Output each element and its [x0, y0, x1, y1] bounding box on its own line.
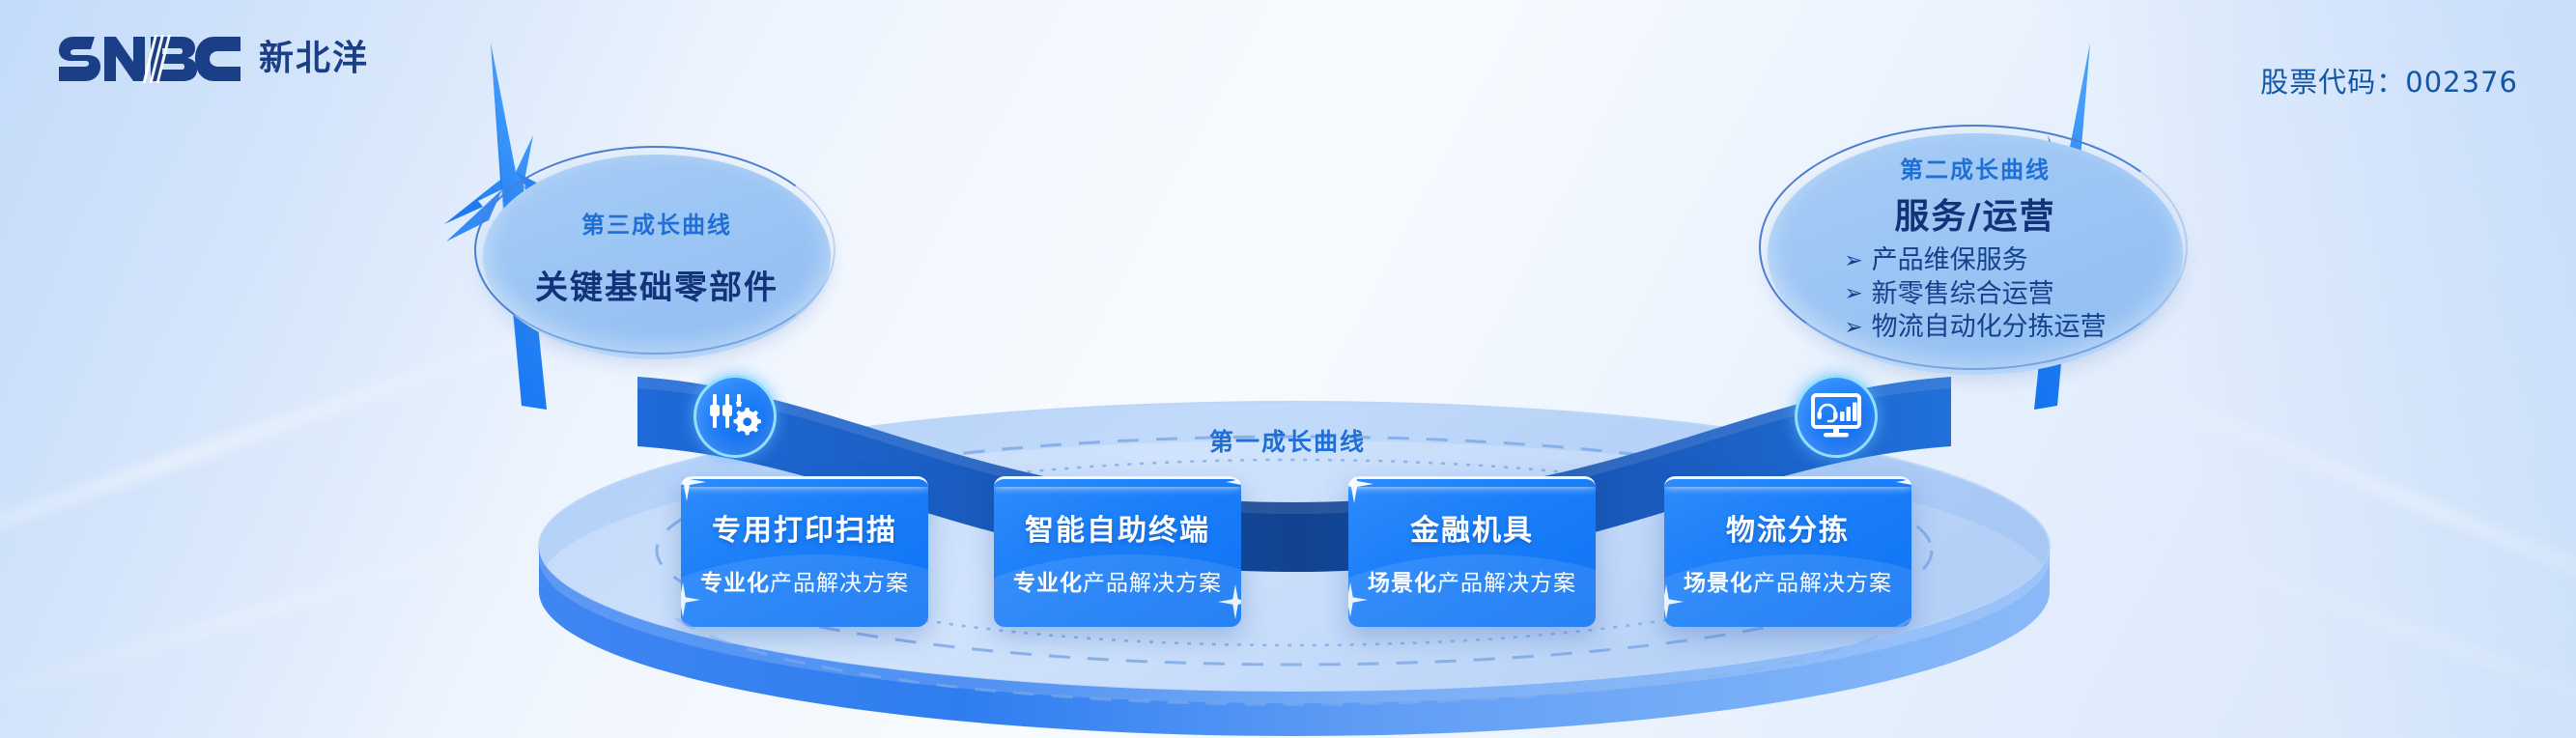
growth-bubble-third[interactable]: 第三成长曲线 关键基础零部件: [483, 155, 831, 359]
list-item-label: 产品维保服务: [1872, 244, 2028, 278]
arrow-bullet-icon: ➢: [1844, 280, 1862, 308]
growth-bubble-second[interactable]: 第二成长曲线 服务/运营 ➢产品维保服务 ➢新零售综合运营 ➢物流自动化分拣运营: [1768, 133, 2183, 375]
slide-canvas: 专用打印扫描 专业化产品解决方案 智能自助终端 专业化产品解决方案 金融机具 场…: [0, 0, 2576, 738]
bubble-title: 服务/运营: [1894, 188, 2055, 239]
list-item: ➢新零售综合运营: [1844, 278, 2106, 312]
list-item: ➢产品维保服务: [1844, 244, 2106, 278]
list-item-label: 新零售综合运营: [1872, 278, 2054, 312]
list-item-label: 物流自动化分拣运营: [1872, 311, 2107, 345]
arrow-bullet-icon: ➢: [1844, 247, 1862, 275]
node-icon-service[interactable]: [1795, 375, 1878, 458]
node-icon-components[interactable]: [694, 375, 777, 458]
bubble-bullet-list: ➢产品维保服务 ➢新零售综合运营 ➢物流自动化分拣运营: [1844, 244, 2106, 345]
arrow-bullet-icon: ➢: [1844, 314, 1862, 342]
bubble-kicker: 第三成长曲线: [581, 206, 732, 240]
bubble-kicker: 第二成长曲线: [1900, 151, 2051, 184]
sliders-gear-icon: [709, 390, 761, 442]
list-item: ➢物流自动化分拣运营: [1844, 311, 2106, 345]
bubble-title: 关键基础零部件: [535, 261, 778, 308]
platform-ring-front: [0, 0, 2576, 738]
monitor-headset-chart-icon: [1810, 392, 1862, 440]
